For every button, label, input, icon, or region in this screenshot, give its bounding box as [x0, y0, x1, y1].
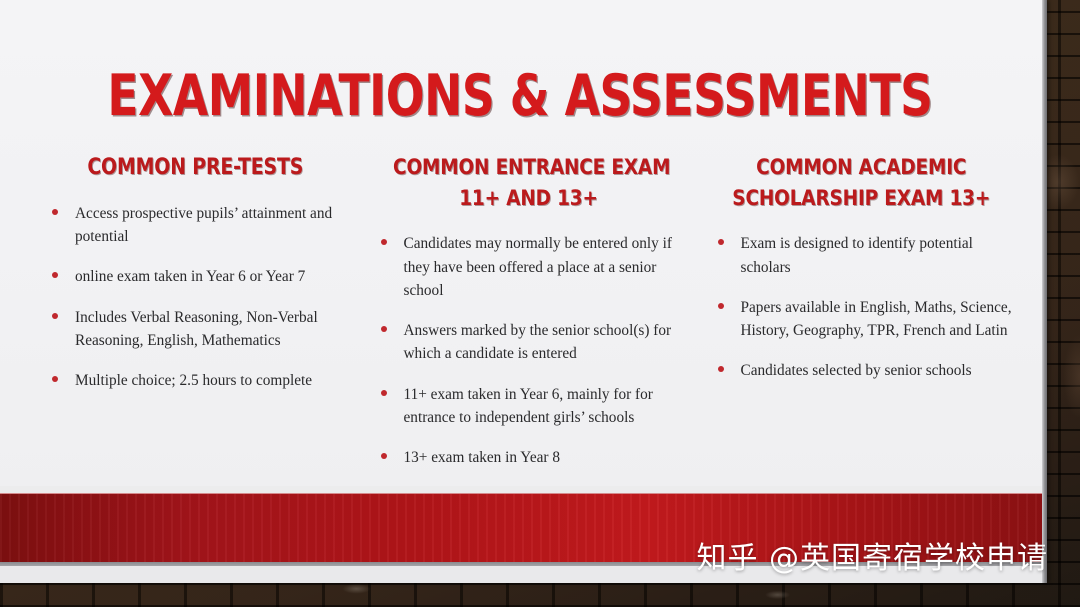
- list-item: Multiple choice; 2.5 hours to complete: [42, 369, 353, 392]
- bullet-dot-icon: [52, 313, 58, 319]
- list-item-text: Papers available in English, Maths, Scie…: [741, 299, 1012, 339]
- list-item: Candidates may normally be entered only …: [371, 232, 686, 302]
- column-heading-line1: COMMON ACADEMIC: [726, 152, 996, 183]
- list-item-text: Exam is designed to identify potential s…: [741, 235, 973, 275]
- column-heading: COMMON PRE-TESTS: [60, 152, 330, 184]
- list-item-text: Access prospective pupils’ attainment an…: [75, 205, 332, 245]
- list-item-text: online exam taken in Year 6 or Year 7: [75, 268, 305, 285]
- column-heading-line1: COMMON PRE-TESTS: [60, 152, 330, 184]
- column-common-academic-scholarship-exam: COMMON ACADEMIC SCHOLARSHIP EXAM 13+ Exa…: [704, 152, 1019, 486]
- list-item: Access prospective pupils’ attainment an…: [42, 202, 353, 249]
- band-upper-margin: [0, 486, 1047, 493]
- list-item-text: Includes Verbal Reasoning, Non-Verbal Re…: [75, 309, 318, 349]
- list-item: 11+ exam taken in Year 6, mainly for for…: [371, 383, 686, 430]
- bullet-dot-icon: [718, 303, 724, 309]
- list-item: Answers marked by the senior school(s) f…: [371, 319, 686, 366]
- list-item-text: 13+ exam taken in Year 8: [404, 449, 560, 466]
- columns-container: COMMON PRE-TESTS Access prospective pupi…: [38, 152, 1018, 486]
- list-item-text: Candidates may normally be entered only …: [404, 235, 672, 299]
- slide-backdrop: EXAMINATIONS & ASSESSMENTS COMMON PRE-TE…: [0, 0, 1080, 607]
- bullet-dot-icon: [718, 366, 724, 372]
- presentation-slide: EXAMINATIONS & ASSESSMENTS COMMON PRE-TE…: [0, 0, 1047, 583]
- bullet-list: Exam is designed to identify potential s…: [708, 232, 1019, 382]
- bullet-dot-icon: [381, 239, 387, 245]
- bullet-list: Access prospective pupils’ attainment an…: [42, 202, 353, 393]
- bullet-dot-icon: [381, 453, 387, 459]
- list-item: Papers available in English, Maths, Scie…: [708, 296, 1019, 343]
- bullet-dot-icon: [52, 272, 58, 278]
- column-common-pre-tests: COMMON PRE-TESTS Access prospective pupi…: [38, 152, 353, 486]
- column-heading-line2: SCHOLARSHIP EXAM 13+: [726, 183, 996, 214]
- list-item-text: Multiple choice; 2.5 hours to complete: [75, 372, 312, 389]
- list-item: Includes Verbal Reasoning, Non-Verbal Re…: [42, 306, 353, 353]
- page-title: EXAMINATIONS & ASSESSMENTS: [104, 68, 936, 125]
- list-item-text: 11+ exam taken in Year 6, mainly for for…: [404, 386, 653, 426]
- list-item: 13+ exam taken in Year 8: [371, 446, 686, 469]
- list-item-text: Candidates selected by senior schools: [741, 362, 972, 379]
- bullet-list: Candidates may normally be entered only …: [371, 232, 686, 469]
- list-item-text: Answers marked by the senior school(s) f…: [404, 322, 672, 362]
- column-heading-line1: COMMON ENTRANCE EXAM: [393, 152, 664, 183]
- bullet-dot-icon: [381, 326, 387, 332]
- list-item: online exam taken in Year 6 or Year 7: [42, 265, 353, 288]
- bullet-dot-icon: [52, 376, 58, 382]
- bullet-dot-icon: [718, 239, 724, 245]
- slide-right-edge: [1042, 0, 1047, 583]
- list-item: Candidates selected by senior schools: [708, 359, 1019, 382]
- watermark: 知乎 @英国寄宿学校申请: [696, 533, 1048, 577]
- bullet-dot-icon: [381, 390, 387, 396]
- column-heading: COMMON ENTRANCE EXAM 11+ AND 13+: [393, 152, 664, 214]
- column-heading: COMMON ACADEMIC SCHOLARSHIP EXAM 13+: [726, 152, 996, 214]
- list-item: Exam is designed to identify potential s…: [708, 232, 1019, 279]
- column-common-entrance-exam: COMMON ENTRANCE EXAM 11+ AND 13+ Candida…: [371, 152, 686, 486]
- column-heading-line2: 11+ AND 13+: [393, 183, 664, 214]
- bullet-dot-icon: [52, 209, 58, 215]
